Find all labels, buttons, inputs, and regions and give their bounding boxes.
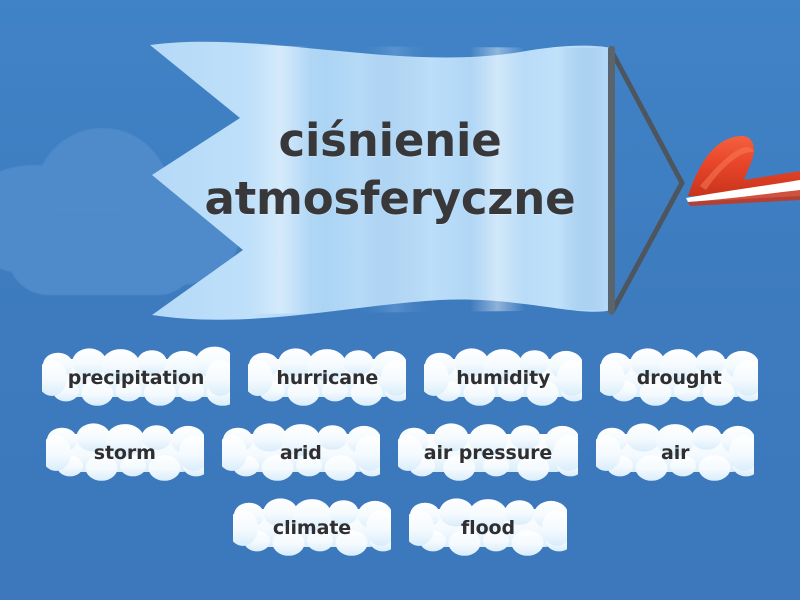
answer-option-storm[interactable]: storm (46, 425, 204, 481)
answer-row: climateflood (0, 490, 800, 565)
answer-option-precipitation[interactable]: precipitation (42, 350, 231, 406)
answer-option-hurricane[interactable]: hurricane (248, 350, 406, 406)
answer-option-label: hurricane (250, 367, 404, 389)
answer-option-label: climate (247, 517, 377, 539)
answer-option-label: flood (435, 517, 541, 539)
answer-option-label: storm (68, 442, 182, 464)
answer-option-label: humidity (430, 367, 576, 389)
answer-option-label: drought (611, 367, 748, 389)
tow-rope (612, 52, 682, 312)
question-prompt-text: ciśnienie atmosferyczne (170, 112, 610, 227)
answer-option-label: precipitation (42, 367, 231, 389)
answer-option-drought[interactable]: drought (600, 350, 758, 406)
answer-option-climate[interactable]: climate (233, 500, 391, 556)
answer-option-label: arid (254, 442, 348, 464)
answer-option-label: air pressure (398, 442, 578, 464)
answer-option-humidity[interactable]: humidity (424, 350, 582, 406)
answer-row: stormaridair pressureair (0, 415, 800, 490)
answer-option-flood[interactable]: flood (409, 500, 567, 556)
answer-option-air-pressure[interactable]: air pressure (398, 425, 578, 481)
answer-options-container: precipitationhurricanehumiditydroughtsto… (0, 340, 800, 600)
tow-plane-icon (686, 136, 800, 206)
answer-option-air[interactable]: air (596, 425, 754, 481)
banner-area: ciśnienie atmosferyczne (0, 0, 800, 340)
answer-option-arid[interactable]: arid (222, 425, 380, 481)
answer-row: precipitationhurricanehumiditydrought (0, 340, 800, 415)
answer-option-label: air (635, 442, 715, 464)
